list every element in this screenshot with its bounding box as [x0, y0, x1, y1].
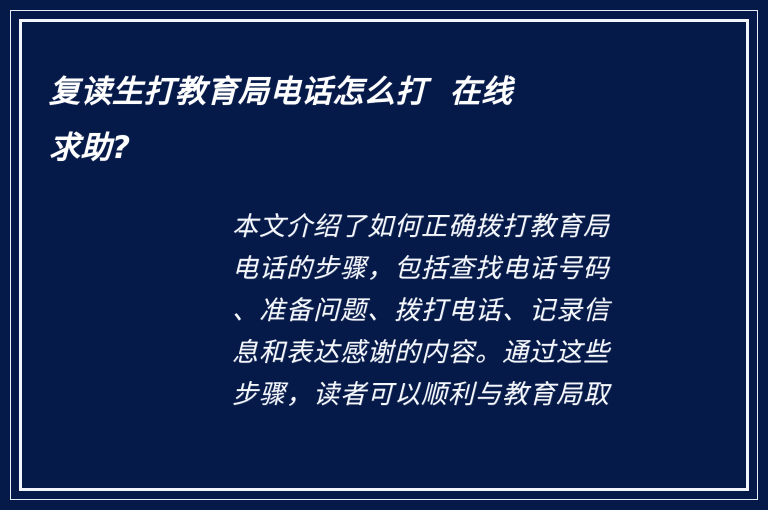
title-line-2: 求助? — [49, 120, 649, 176]
poster-content: 复读生打教育局电话怎么打 在线 求助? 本文介绍了如何正确拨打教育局 电话的步骤… — [0, 0, 768, 510]
page-title: 复读生打教育局电话怎么打 在线 求助? — [49, 64, 649, 176]
summary-line-5: 步骤，读者可以顺利与教育局取 — [232, 374, 646, 416]
title-line-1: 复读生打教育局电话怎么打 在线 — [49, 64, 649, 120]
article-summary: 本文介绍了如何正确拨打教育局 电话的步骤，包括查找电话号码 、准备问题、拨打电话… — [232, 206, 646, 416]
summary-line-2: 电话的步骤，包括查找电话号码 — [232, 248, 646, 290]
summary-line-4: 息和表达感谢的内容。通过这些 — [232, 332, 646, 374]
summary-line-1: 本文介绍了如何正确拨打教育局 — [232, 206, 646, 248]
poster-card: 复读生打教育局电话怎么打 在线 求助? 本文介绍了如何正确拨打教育局 电话的步骤… — [0, 0, 768, 510]
summary-line-3: 、准备问题、拨打电话、记录信 — [232, 290, 646, 332]
